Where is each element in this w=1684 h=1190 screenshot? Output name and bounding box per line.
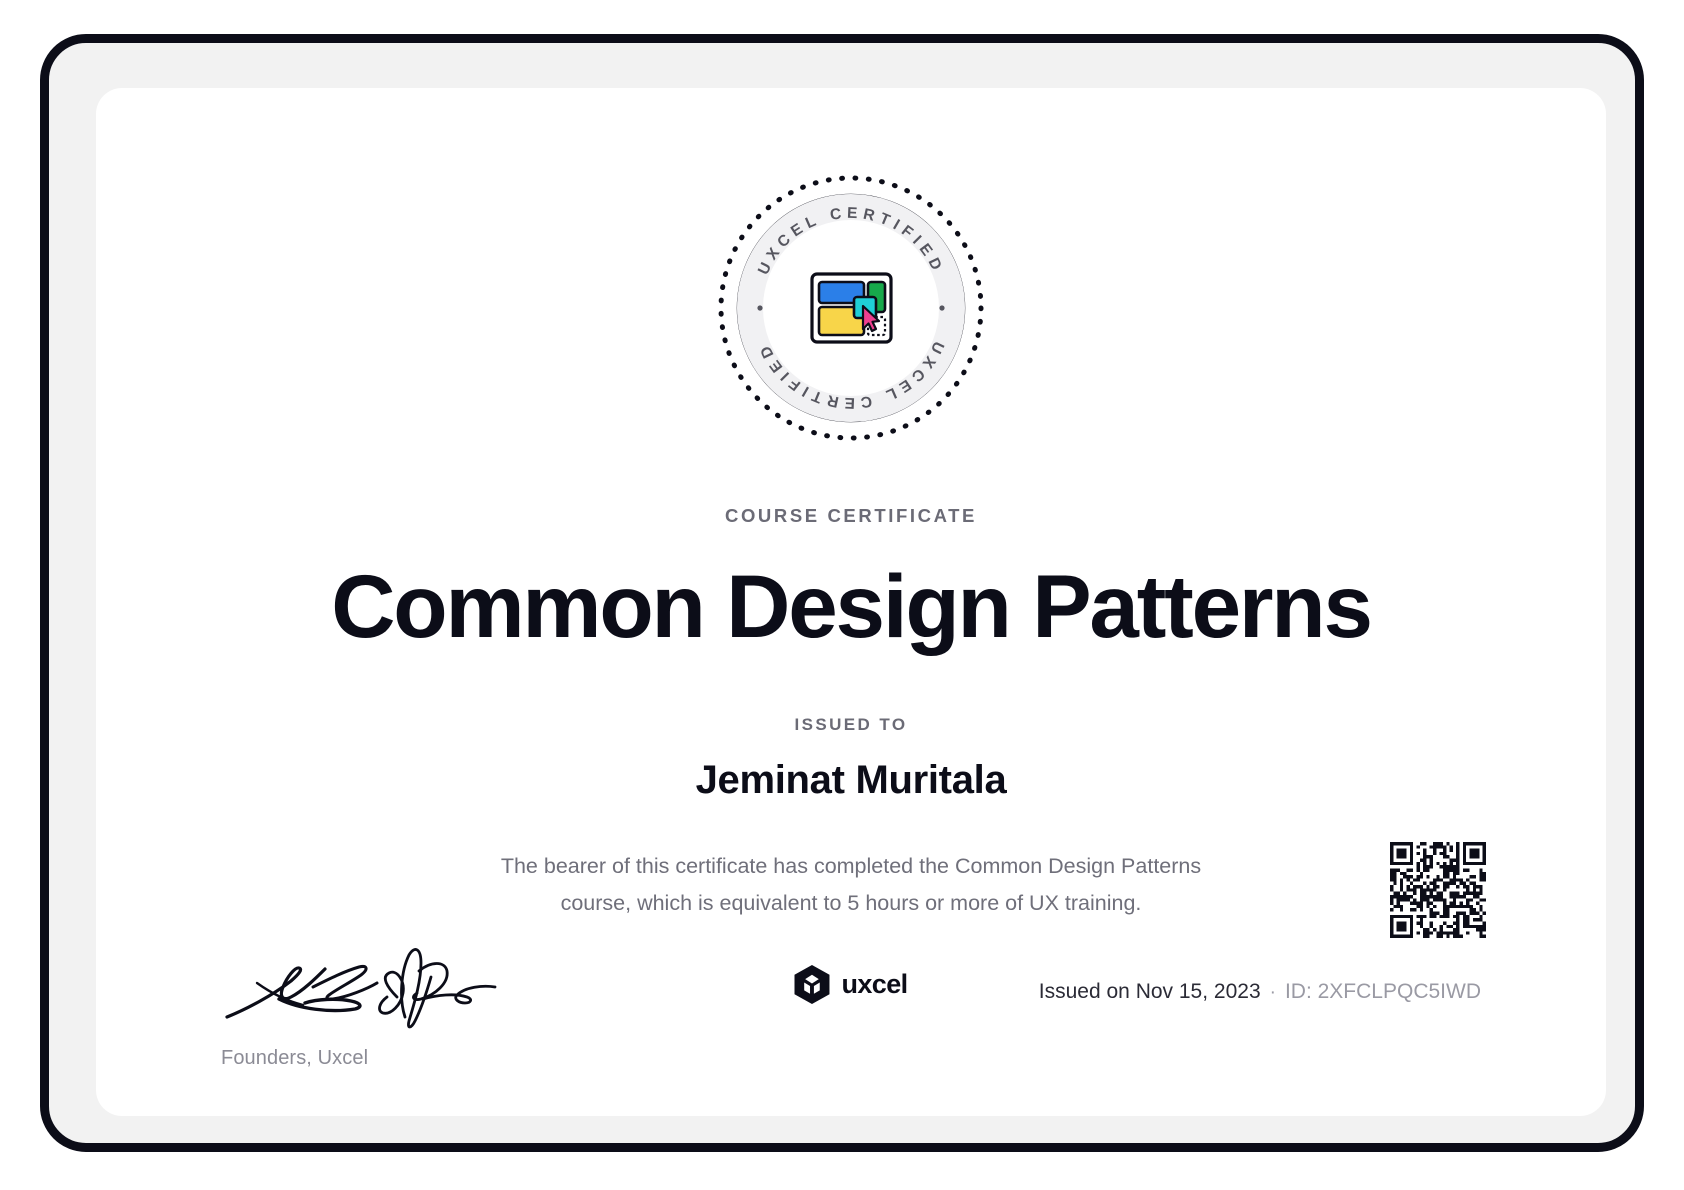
meta-separator: · — [1270, 982, 1276, 1004]
founder-signature-2 — [380, 949, 495, 1027]
founder-signature-1 — [227, 966, 377, 1017]
verification-qr-code[interactable] — [1390, 842, 1486, 938]
issued-on-date: Issued on Nov 15, 2023 — [1039, 980, 1261, 1004]
certificate-meta: Issued on Nov 15, 2023 · ID: 2XFCLPQC5IW… — [1039, 980, 1481, 1004]
badge-separator-dot-left — [757, 305, 762, 310]
signature-block: Founders, Uxcel — [221, 943, 521, 1070]
certificate-id: ID: 2XFCLPQC5IWD — [1285, 980, 1481, 1004]
page-title: Common Design Patterns — [96, 558, 1606, 654]
design-patterns-window-icon — [812, 274, 891, 342]
certificate-description: The bearer of this certificate has compl… — [471, 848, 1231, 922]
founder-signatures-graphic — [221, 943, 501, 1033]
certificate-outer-frame: UXCEL CERTIFIED UXCEL CERTIFIED — [40, 34, 1644, 1152]
qr-code-graphic — [1390, 842, 1486, 938]
uxcel-hexagon-logo — [794, 965, 829, 1004]
badge-seal-graphic: UXCEL CERTIFIED UXCEL CERTIFIED — [716, 173, 986, 443]
eyebrow-label: COURSE CERTIFICATE — [96, 505, 1606, 527]
badge-separator-dot-right — [939, 305, 944, 310]
certificate-inner-card: UXCEL CERTIFIED UXCEL CERTIFIED — [96, 88, 1606, 1116]
brand-name: uxcel — [841, 969, 907, 1000]
recipient-name: Jeminat Muritala — [96, 758, 1606, 803]
uxcel-brand-logo: uxcel — [794, 965, 907, 1004]
certificate-page: UXCEL CERTIFIED UXCEL CERTIFIED — [0, 0, 1684, 1190]
issued-to-label: ISSUED TO — [96, 715, 1606, 735]
uxcel-certified-badge: UXCEL CERTIFIED UXCEL CERTIFIED — [716, 173, 986, 443]
founders-label: Founders, Uxcel — [221, 1047, 521, 1070]
